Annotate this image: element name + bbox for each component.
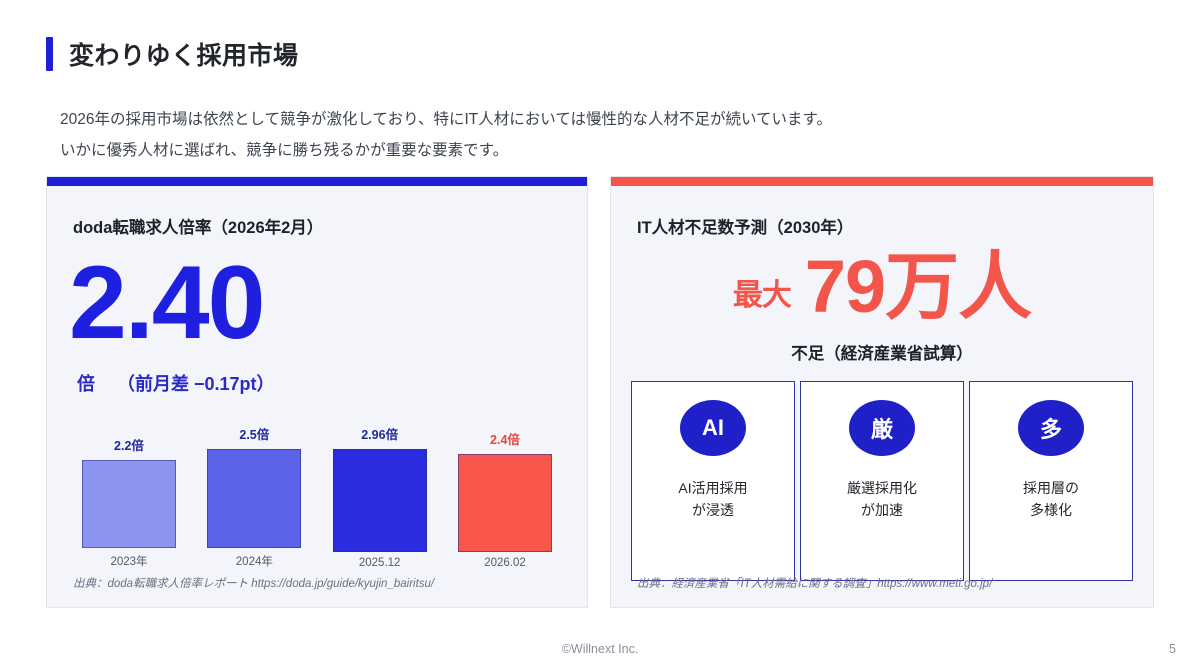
right-card-source: 出典：経済産業省「IT人材需給に関する調査」https://www.meti.g… — [637, 575, 992, 591]
card-accent-bar-red — [611, 177, 1153, 186]
bar-category-label: 2026.02 — [484, 557, 526, 569]
left-card-unit-row: 倍（前月差 −0.17pt） — [77, 370, 587, 396]
lead-line-2: いかに優秀人材に選ばれ、競争に勝ち残るかが重要な要素です。 — [60, 135, 1140, 166]
bar — [82, 460, 176, 548]
trend-tile: 厳厳選採用化が加速 — [800, 381, 964, 581]
trend-tile-badge-icon: 多 — [1018, 400, 1084, 456]
headline-main: 79万人 — [805, 248, 1031, 326]
bar-column: 2.2倍2023年 — [73, 424, 185, 569]
left-card-delta: （前月差 −0.17pt） — [117, 374, 275, 394]
left-card-heading: doda転職求人倍率（2026年2月） — [73, 214, 587, 238]
headline-prefix: 最大 — [733, 270, 791, 326]
card-accent-bar-blue — [47, 177, 587, 186]
bar-category-label: 2025.12 — [359, 557, 401, 569]
trend-tile-badge-icon: AI — [680, 400, 746, 456]
bar-chart: 2.2倍2023年2.5倍2024年2.96倍2025.122.4倍2026.0… — [73, 424, 561, 569]
trend-tile: 多採用層の多様化 — [969, 381, 1133, 581]
trend-tile-label: 採用層の多様化 — [1023, 478, 1079, 521]
bar-column: 2.96倍2025.12 — [324, 424, 436, 569]
left-card-unit: 倍 — [77, 374, 95, 394]
trend-tile-row: AIAI活用採用が浸透厳厳選採用化が加速多採用層の多様化 — [631, 381, 1133, 581]
slide-root: 変わりゆく採用市場 2026年の採用市場は依然として競争が激化しており、特にIT… — [0, 0, 1200, 668]
lead-line-1: 2026年の採用市場は依然として競争が激化しており、特にIT人材においては慢性的… — [60, 104, 1140, 135]
left-card-big-value: 2.40 — [69, 250, 587, 356]
page-number: 5 — [1169, 642, 1176, 656]
bar-column: 2.4倍2026.02 — [449, 424, 561, 569]
page-title: 変わりゆく採用市場 — [46, 36, 299, 72]
bar-value-label: 2.96倍 — [361, 424, 398, 443]
right-card-subnote: 不足（経済産業省試算） — [611, 340, 1153, 364]
trend-tile-badge-icon: 厳 — [849, 400, 915, 456]
bar-category-label: 2023年 — [110, 553, 147, 569]
bar-column: 2.5倍2024年 — [198, 424, 310, 569]
lead-paragraph: 2026年の採用市場は依然として競争が激化しており、特にIT人材においては慢性的… — [60, 104, 1140, 166]
trend-tile-label: 厳選採用化が加速 — [847, 478, 917, 521]
trend-tile-label: AI活用採用が浸透 — [678, 478, 747, 521]
card-doda-ratio: doda転職求人倍率（2026年2月） 2.40 倍（前月差 −0.17pt） … — [46, 176, 588, 608]
bar — [458, 454, 552, 552]
bar-category-label: 2024年 — [236, 553, 273, 569]
footer-copyright: ©Willnext Inc. — [0, 642, 1200, 656]
right-card-headline: 最大 79万人 — [611, 248, 1153, 326]
left-card-source: 出典：doda転職求人倍率レポート https://doda.jp/guide/… — [73, 575, 434, 591]
bar — [333, 449, 427, 552]
trend-tile: AIAI活用採用が浸透 — [631, 381, 795, 581]
right-card-heading: IT人材不足数予測（2030年） — [637, 214, 1153, 238]
bar — [207, 449, 301, 548]
bar-value-label: 2.2倍 — [114, 435, 144, 454]
title-accent-bar — [46, 37, 53, 71]
card-it-talent-shortage: IT人材不足数予測（2030年） 最大 79万人 不足（経済産業省試算） AIA… — [610, 176, 1154, 608]
title-text: 変わりゆく採用市場 — [69, 36, 299, 72]
bar-value-label: 2.4倍 — [490, 429, 520, 448]
bar-value-label: 2.5倍 — [239, 424, 269, 443]
